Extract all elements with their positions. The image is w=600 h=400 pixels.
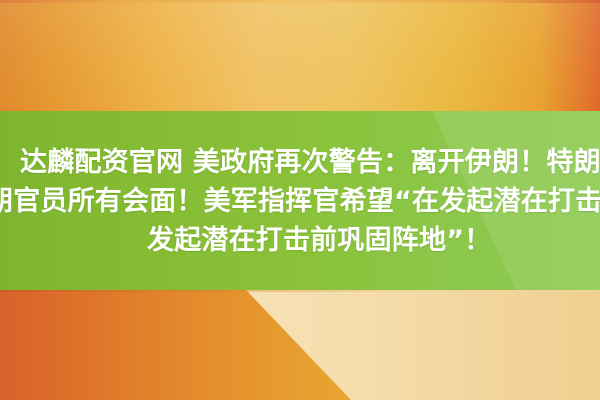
headline-line-3: 发起潜在打击前巩固阵地”！ [147, 226, 491, 256]
headline-line-1: 达麟配资官网 美政府再次警告：离开伊朗！特朗 [20, 148, 600, 178]
top-orange-band [0, 0, 600, 111]
headline-text-block: 达麟配资官网 美政府再次警告：离开伊朗！特朗 朗官员所有会面！美军指挥官希望“在… [0, 111, 600, 290]
promo-banner: 达麟配资官网 美政府再次警告：离开伊朗！特朗 朗官员所有会面！美军指挥官希望“在… [0, 0, 600, 400]
top-band-sheen [0, 0, 600, 111]
top-edge-highlight [0, 0, 600, 3]
headline-line-2: 朗官员所有会面！美军指挥官希望“在发起潜在打击前 [0, 187, 600, 217]
bottom-band-hairline [0, 290, 600, 292]
